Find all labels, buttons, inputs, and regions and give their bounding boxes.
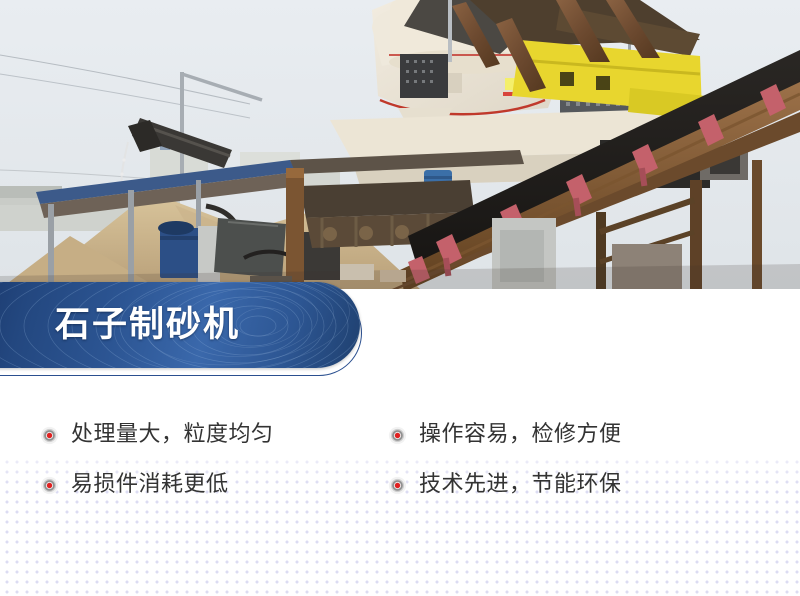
bullet-target-icon	[40, 476, 59, 495]
feature-label: 处理量大，粒度均匀	[71, 420, 274, 450]
feature-label: 技术先进，节能环保	[419, 470, 622, 500]
bullet-target-icon	[388, 476, 407, 495]
product-promo-page: 石子制砂机 处理量大，粒度均匀	[0, 0, 800, 596]
bullet-target-icon	[388, 426, 407, 445]
feature-label: 易损件消耗更低	[71, 470, 229, 500]
title-banner: 石子制砂机	[0, 282, 380, 378]
hero-photo	[0, 0, 800, 289]
bullet-target-icon	[40, 426, 59, 445]
feature-label: 操作容易，检修方便	[419, 420, 622, 450]
feature-list: 处理量大，粒度均匀 操作容易，检修方便	[0, 404, 800, 514]
list-item: 处理量大，粒度均匀	[40, 420, 274, 450]
banner-shape: 石子制砂机	[0, 282, 360, 368]
list-item: 操作容易，检修方便	[388, 420, 622, 450]
list-item: 易损件消耗更低	[40, 470, 229, 500]
page-title: 石子制砂机	[55, 298, 240, 352]
list-item: 技术先进，节能环保	[388, 470, 622, 500]
